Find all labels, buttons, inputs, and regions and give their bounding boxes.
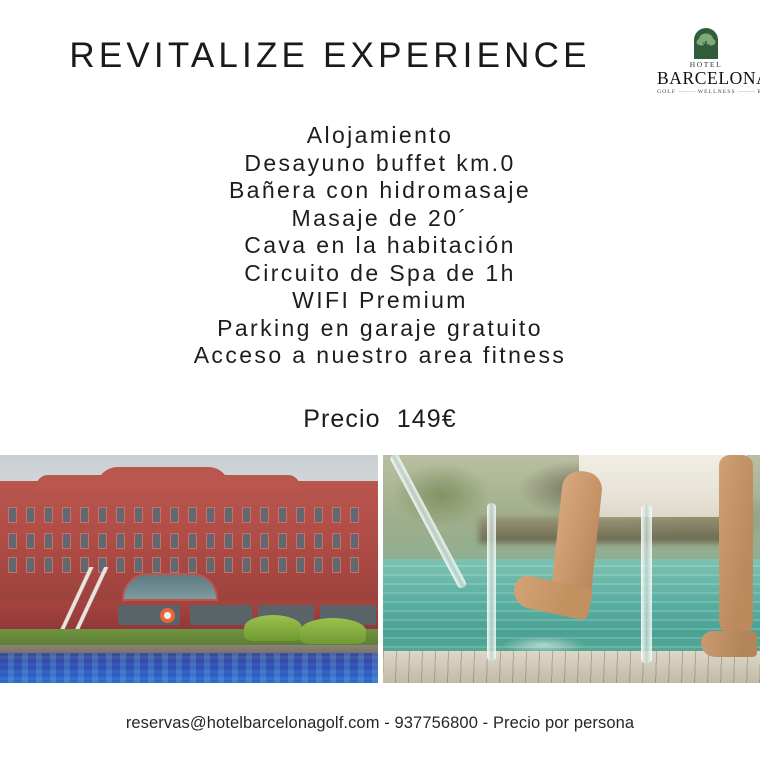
amenity-item: Circuito de Spa de 1h — [0, 260, 760, 288]
pool-reflection — [0, 653, 378, 683]
window-row — [8, 507, 378, 523]
pool-coping — [383, 651, 760, 683]
terrace-window — [190, 605, 252, 625]
spa-feet-pool-photo — [383, 455, 760, 683]
hotel-logo: HOTEL BARCELONA GOLF ——— WELLNESS ——— RE… — [657, 26, 755, 92]
hedge — [244, 615, 302, 641]
life-ring-icon — [160, 608, 175, 623]
poster-header: REVITALIZE EXPERIENCE HOTEL BARCELONA GO… — [0, 0, 760, 108]
logo-subline: GOLF ——— WELLNESS ——— RESORT — [657, 88, 755, 96]
hedge — [300, 618, 366, 644]
spa-lounger — [479, 517, 749, 543]
amenity-item: WIFI Premium — [0, 287, 760, 315]
poster-footer: reservas@hotelbarcelonagolf.com - 937756… — [0, 714, 760, 733]
amenity-item: Desayuno buffet km.0 — [0, 150, 760, 178]
amenity-item: Alojamiento — [0, 122, 760, 150]
logo-sub-wellness: WELLNESS — [698, 89, 736, 95]
pool-handrail — [487, 503, 496, 661]
coping-tile-lines — [383, 651, 760, 683]
promo-poster: REVITALIZE EXPERIENCE HOTEL BARCELONA GO… — [0, 0, 760, 768]
amenity-item: Acceso a nuestro area fitness — [0, 342, 760, 370]
amenities-list: Alojamiento Desayuno buffet km.0 Bañera … — [0, 122, 760, 370]
foot-on-deck — [701, 631, 757, 657]
amenity-item: Masaje de 20´ — [0, 205, 760, 233]
logo-sub-dash-right: ——— — [738, 89, 755, 95]
pool-handrail — [641, 505, 652, 663]
entrance-canopy — [122, 573, 218, 601]
outdoor-pool — [0, 653, 378, 683]
window-row — [8, 533, 378, 549]
price-row: Precio 149€ — [0, 405, 760, 434]
logo-sub-golf: GOLF — [657, 89, 676, 95]
contact-line: reservas@hotelbarcelonagolf.com - 937756… — [126, 714, 634, 732]
hotel-scene — [0, 455, 378, 683]
exterior-stairs — [38, 567, 114, 631]
logo-name: BARCELONA — [657, 69, 755, 88]
hotel-central-gable — [96, 467, 230, 489]
amenity-item: Bañera con hidromasaje — [0, 177, 760, 205]
price-text: Precio 149€ — [303, 405, 457, 433]
arch-tree-icon — [691, 26, 721, 59]
amenity-item: Parking en garaje gratuito — [0, 315, 760, 343]
logo-sub-dash-left: ——— — [679, 89, 696, 95]
spa-scene — [383, 455, 760, 683]
leg — [719, 455, 753, 637]
amenity-item: Cava en la habitación — [0, 232, 760, 260]
hotel-exterior-pool-photo — [0, 455, 378, 683]
photo-band — [0, 455, 760, 683]
page-title: REVITALIZE EXPERIENCE — [0, 36, 660, 76]
